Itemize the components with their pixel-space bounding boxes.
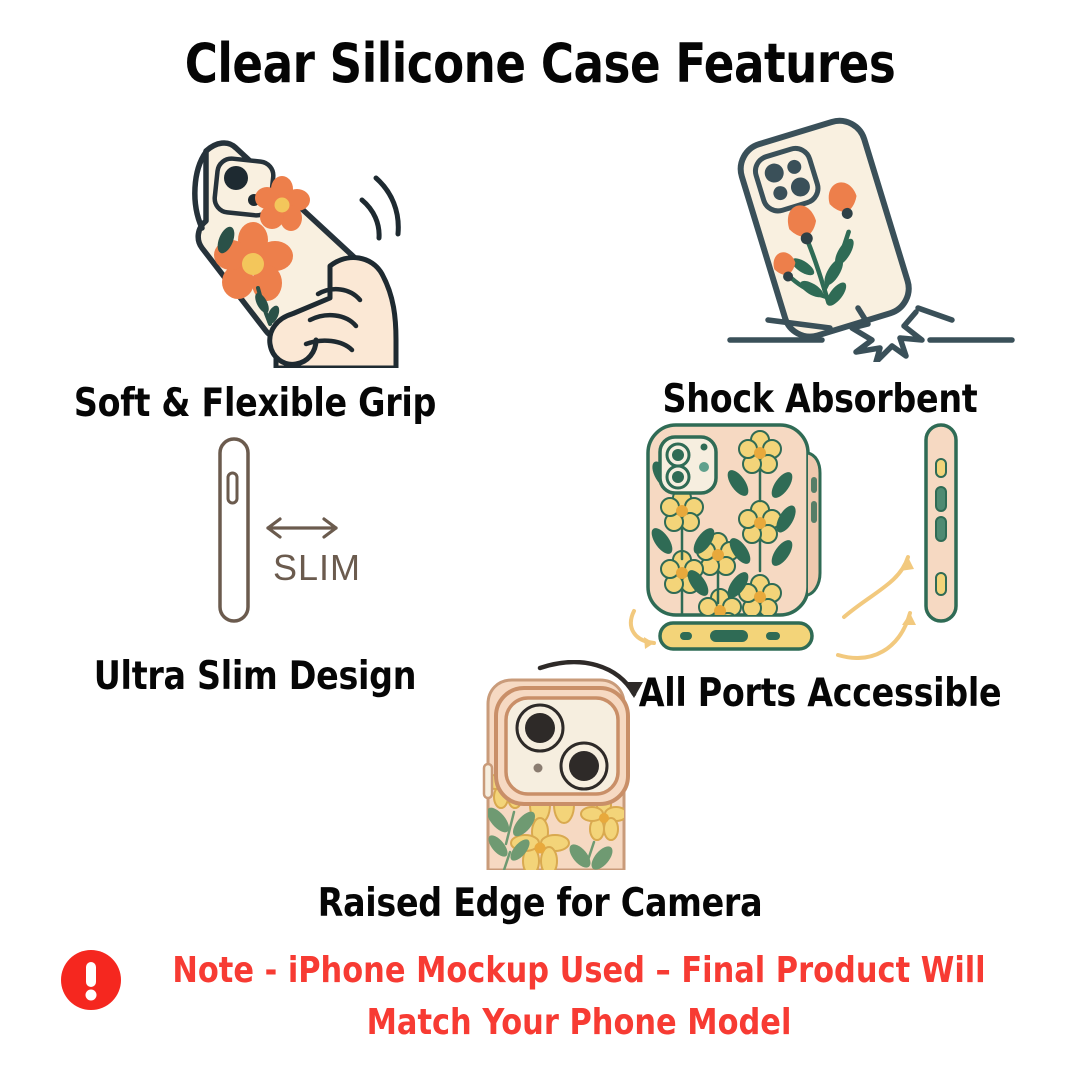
note-banner: Note - iPhone Mockup Used – Final Produc… xyxy=(60,945,1020,1049)
svg-text:SLIM: SLIM xyxy=(273,547,361,588)
phone-case-camera-bump-illustration xyxy=(300,660,780,875)
exclamation-circle-icon xyxy=(60,949,122,1016)
note-text: Note - iPhone Mockup Used – Final Produc… xyxy=(164,945,993,1049)
phone-case-impact-illustration xyxy=(600,112,1040,367)
hand-flexing-phone-case-illustration xyxy=(30,118,480,373)
feature-ultra-slim-design: SLIM SLIM Ultra Slim Design xyxy=(30,425,480,699)
feature-soft-flexible-grip: Soft & Flexible Grip xyxy=(30,118,480,426)
infographic-page: Clear Silicone Case Features xyxy=(0,0,1080,1080)
feature-raised-edge-for-camera: Raised Edge for Camera xyxy=(300,660,780,926)
feature-label-soft-flexible-grip: Soft & Flexible Grip xyxy=(41,381,469,426)
feature-shock-absorbent: Shock Absorbent xyxy=(600,112,1040,422)
page-title: Clear Silicone Case Features xyxy=(38,32,1042,95)
phone-case-ports-illustration xyxy=(600,415,1040,665)
phone-side-profile-thickness-illustration: SLIM SLIM xyxy=(30,425,480,640)
feature-label-raised-edge-for-camera: Raised Edge for Camera xyxy=(312,881,768,926)
